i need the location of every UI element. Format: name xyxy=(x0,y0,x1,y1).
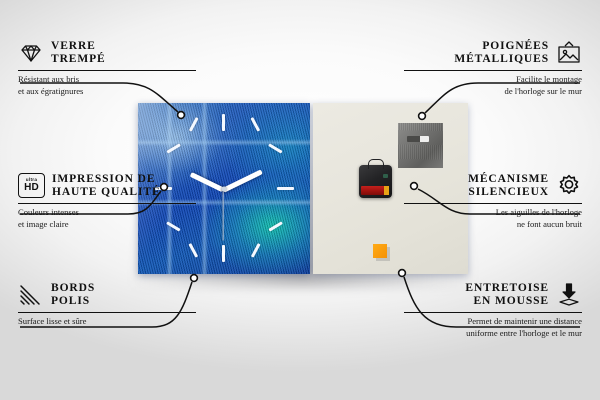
gear-icon xyxy=(556,173,582,199)
feature-poignees-metalliques: POIGNÉES MÉTALLIQUES Facilite le montage… xyxy=(404,40,582,97)
feature-title-line-2: HAUTE QUALITÉ xyxy=(52,186,161,199)
tick-3 xyxy=(277,187,294,190)
polished-edge-lines-icon xyxy=(18,282,44,308)
feature-title-line-2: MÉTALLIQUES xyxy=(454,53,549,66)
feature-title-line-1: IMPRESSION DE xyxy=(52,173,155,186)
infographic-canvas: VERRE TREMPÉ Résistant aux bris et aux é… xyxy=(0,0,600,400)
feature-description: Permet de maintenir une distance uniform… xyxy=(404,316,582,339)
feature-title-line-1: POIGNÉES xyxy=(482,40,549,53)
feature-title-line-1: BORDS xyxy=(51,282,95,295)
feature-description: Résistant aux bris et aux égratignures xyxy=(18,74,196,97)
hanger-slot xyxy=(407,136,429,142)
feature-rule xyxy=(18,203,196,204)
feature-rule xyxy=(404,70,582,71)
metal-hanger-plate xyxy=(398,123,443,168)
feature-description: Couleurs intenses et image claire xyxy=(18,207,196,230)
feature-description: Facilite le montage de l'horloge sur le … xyxy=(404,74,582,97)
feature-rule xyxy=(404,312,582,313)
badge-main-label: HD xyxy=(24,183,39,193)
mechanism-hook xyxy=(368,159,384,169)
battery-terminal xyxy=(384,186,389,195)
feature-bords-polis: BORDS POLIS Surface lisse et sûre xyxy=(18,282,196,328)
ultra-hd-badge-icon: ultra HD xyxy=(18,173,45,198)
battery xyxy=(361,186,389,195)
feature-rule xyxy=(404,203,582,204)
hands-center-cap xyxy=(222,186,227,191)
feature-description: Les aiguilles de l'horloge ne font aucun… xyxy=(404,207,582,230)
feature-impression-haute-qualite: ultra HD IMPRESSION DE HAUTE QUALITÉ Cou… xyxy=(18,173,196,230)
tick-12 xyxy=(222,114,225,131)
arrow-down-onto-pad-icon xyxy=(556,282,582,308)
feature-title-line-2: EN MOUSSE xyxy=(473,295,549,308)
second-hand xyxy=(222,189,223,241)
mechanism-dial xyxy=(383,174,388,178)
feature-title-line-1: MÉCANISME xyxy=(468,173,549,186)
picture-frame-hanger-icon xyxy=(556,40,582,66)
feature-title-line-1: ENTRETOISE xyxy=(465,282,549,295)
feature-entretoise-en-mousse: ENTRETOISE EN MOUSSE Permet de maintenir… xyxy=(404,282,582,339)
feature-description: Surface lisse et sûre xyxy=(18,316,196,328)
feature-rule xyxy=(18,70,196,71)
feature-rule xyxy=(18,312,196,313)
feature-title-line-2: TREMPÉ xyxy=(51,53,106,66)
feature-verre-trempe: VERRE TREMPÉ Résistant aux bris et aux é… xyxy=(18,40,196,97)
tick-6 xyxy=(222,245,225,262)
diamond-icon xyxy=(18,40,44,66)
feature-title-line-2: SILENCIEUX xyxy=(468,186,549,199)
feature-mecanisme-silencieux: MÉCANISME SILENCIEUX Les aiguilles de l'… xyxy=(404,173,582,230)
quartz-mechanism xyxy=(359,165,392,198)
feature-title-line-2: POLIS xyxy=(51,295,90,308)
feature-title-line-1: VERRE xyxy=(51,40,96,53)
foam-spacer xyxy=(373,244,387,258)
